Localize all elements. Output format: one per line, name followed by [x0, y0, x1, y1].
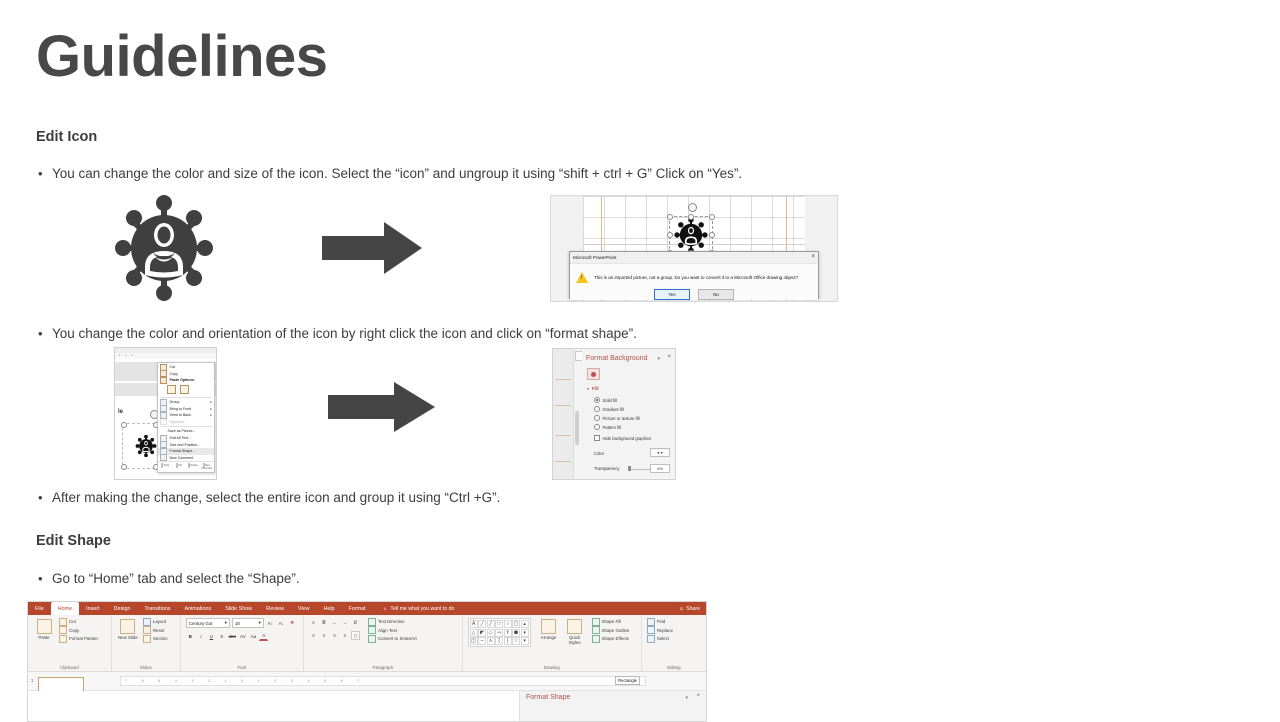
resize-handle-e[interactable] — [709, 232, 715, 238]
option-label: Solid fill — [603, 398, 617, 403]
group-label-slides: Slides — [112, 665, 180, 670]
new-slide-button[interactable]: New Slide — [117, 618, 139, 640]
shape-effects-label: Shape Effects — [602, 636, 629, 641]
checkbox-hide-background-graphics[interactable]: Hide background graphics — [594, 435, 651, 441]
ribbon-tab-home[interactable]: Home — [51, 602, 79, 615]
arrange-icon — [541, 619, 556, 634]
shape-parallelogram[interactable]: ◇ — [487, 629, 495, 637]
arrange-button[interactable]: Arrange — [538, 618, 560, 640]
align-right-button[interactable]: ≡ — [330, 631, 339, 640]
layout-icon — [143, 618, 151, 626]
close-icon[interactable]: × — [667, 354, 671, 360]
powerpoint-ungroup-dialog-screenshot: Microsoft PowerPoint × This is an import… — [550, 195, 838, 302]
selection-box — [669, 216, 713, 254]
menu-item-label: Bring to Front — [170, 407, 192, 411]
text-shadow-button[interactable]: S — [217, 632, 226, 641]
quick-styles-label: Quick Styles — [569, 635, 581, 645]
lightbulb-icon: ☼ — [383, 606, 388, 612]
group-label-font: Font — [181, 665, 303, 670]
resize-handle-n[interactable] — [688, 214, 694, 220]
find-label: Find — [657, 619, 666, 624]
virus-person-icon-small — [670, 217, 712, 253]
shape-rectangle[interactable]: □ — [495, 620, 503, 628]
bullet-text-4: Go to “Home” tab and select the “Shape”. — [52, 571, 300, 588]
ribbon-group-drawing: A ╱ ╱ □ ○ ▢ ▴ △ ◤ ◇ ⇒ ⇑ ⬟ ▾ ◫ ⌣ ∧ — [463, 615, 642, 671]
copy-button[interactable]: Copy — [59, 627, 98, 635]
increase-indent-button[interactable]: → — [340, 618, 349, 627]
transparency-label: Transparency — [594, 466, 619, 471]
right-arrow-icon-1 — [322, 222, 422, 279]
shape-pentagon[interactable]: ⬟ — [512, 629, 520, 637]
shape-left-brace[interactable]: { — [495, 637, 503, 645]
shape-curve[interactable]: ⌣ — [478, 637, 486, 645]
chevron-down-icon: ▾ — [661, 450, 663, 455]
increase-font-size-button[interactable]: A↑ — [266, 619, 275, 628]
quick-styles-button[interactable]: Quick Styles — [564, 618, 586, 645]
reset-label: Reset — [153, 628, 164, 633]
arrange-label: Arrange — [541, 635, 557, 640]
bullet-item-3: • After making the change, select the en… — [38, 490, 500, 507]
new-slide-label: New Slide — [118, 635, 138, 640]
menu-item-label: Format Shape... — [170, 449, 196, 453]
section-icon — [143, 635, 151, 643]
color-label: Color — [594, 451, 604, 456]
strikethrough-button[interactable]: abc — [228, 632, 237, 641]
menu-item-label: Size and Position... — [170, 443, 201, 447]
section-heading-edit-shape: Edit Shape — [36, 533, 111, 549]
menu-separator — [160, 397, 212, 398]
color-swatch-icon: ● — [657, 450, 659, 455]
section-button[interactable]: Section — [143, 635, 168, 643]
paste-picture-icon[interactable] — [180, 385, 189, 394]
copy-icon — [59, 626, 67, 634]
menu-item-label: Hyperlink... — [170, 420, 188, 424]
group-label-clipboard: Clipboard — [28, 665, 111, 670]
chevron-right-icon: ▸ — [210, 407, 212, 411]
ribbon-group-slides: New Slide Layout Reset Section — [112, 615, 181, 671]
context-menu[interactable]: Cut Copy Paste Options: Group ▸ — [157, 362, 215, 473]
radio-pattern-fill[interactable]: Pattern fill — [594, 424, 621, 430]
copy-label: Copy — [69, 628, 79, 633]
shape-right-brace[interactable]: } — [504, 637, 512, 645]
search-icon — [647, 618, 655, 626]
shape-outline-button[interactable]: Shape Outline — [592, 627, 630, 635]
virus-person-icon-small — [135, 435, 157, 457]
menu-item-new-comment[interactable]: New Comment — [158, 455, 214, 462]
paste-icon — [37, 619, 52, 634]
fill-color-dot — [591, 372, 596, 377]
color-picker-button[interactable]: ● ▾ — [650, 448, 670, 457]
radio-solid-fill[interactable]: Solid fill — [594, 397, 617, 403]
person-share-icon: ☺ — [679, 606, 684, 612]
slide-pane: le — [115, 359, 216, 479]
ribbon-tab-animations[interactable]: Animations — [178, 602, 219, 615]
bullet-item-4: • Go to “Home” tab and select the “Shape… — [38, 571, 300, 588]
option-label: Gradient fill — [603, 407, 624, 412]
bold-button[interactable]: B — [186, 632, 195, 641]
resize-handle-w[interactable] — [667, 232, 673, 238]
group-label-drawing: Drawing — [463, 665, 641, 670]
paste-options-row[interactable] — [158, 384, 214, 396]
format-painter-icon — [59, 635, 67, 643]
text-direction-label: Text Direction — [378, 619, 405, 624]
mini-tool-label: Outline — [190, 464, 198, 467]
text-direction-icon — [368, 618, 376, 626]
resize-handle-nw[interactable] — [121, 422, 127, 428]
horizontal-ruler[interactable]: 7 . . 6 . . 5 . . 4 . . 3 . . 2 . . 1 . … — [120, 676, 646, 686]
shape-rounded-rect[interactable]: ▢ — [512, 620, 520, 628]
tell-me-label: Tell me what you want to do — [390, 606, 454, 612]
dialog-title: Microsoft PowerPoint — [573, 255, 616, 260]
ribbon-tab-insert[interactable]: Insert — [79, 602, 106, 615]
format-shape-title: Format Shape — [526, 694, 570, 701]
replace-icon — [647, 626, 655, 634]
fill-section-label: Fill — [592, 386, 599, 391]
line-spacing-button[interactable]: ⇵ — [351, 618, 360, 627]
menu-item-label: New Comment — [170, 456, 194, 460]
ribbon-tab-view[interactable]: View — [291, 602, 317, 615]
menu-item-label: Group — [170, 400, 180, 404]
section-label: Section — [153, 636, 168, 641]
ribbon-tab-format[interactable]: Format — [342, 602, 373, 615]
justify-button[interactable]: ≡ — [340, 631, 349, 640]
shape-star[interactable]: ☆ — [512, 637, 520, 645]
shape-outline-icon — [592, 626, 600, 634]
format-shape-panel: Format Shape ▾ × — [519, 691, 706, 721]
font-size-combobox[interactable]: 18 ▾ — [232, 618, 264, 628]
shapes-scroll-up[interactable]: ▴ — [521, 620, 529, 628]
shape-right-triangle[interactable]: ◤ — [478, 629, 486, 637]
powerpoint-dialog: Microsoft PowerPoint × This is an import… — [569, 251, 819, 299]
menu-separator — [160, 426, 212, 427]
ribbon-group-paragraph: ≡ ≣ ← → ⇵ ≡ ≡ ≡ ≡ ▯ — [304, 615, 463, 671]
page-title: Guidelines — [36, 28, 328, 86]
mini-tool-new-comment[interactable]: New Comment — [201, 464, 212, 470]
save-picture-icon — [160, 429, 165, 434]
bullets-button[interactable]: ≡ — [309, 618, 318, 627]
menu-item-label: Paste Options: — [170, 378, 195, 382]
format-painter-button[interactable]: Format Painter — [59, 635, 98, 643]
rotate-handle[interactable] — [688, 203, 697, 212]
panel-title: Format Background — [586, 355, 647, 362]
mini-tool-fill[interactable]: Fill — [174, 464, 185, 470]
shape-tooltip: Rectangle — [615, 676, 640, 685]
align-center-button[interactable]: ≡ — [319, 631, 328, 640]
bullet-marker: • — [38, 490, 52, 506]
shape-effects-icon — [592, 635, 600, 643]
shape-triangle[interactable]: △ — [470, 629, 478, 637]
group-label-paragraph: Paragraph — [304, 665, 462, 670]
slide-thumbnail-strip — [553, 349, 574, 479]
slide-thumbnail[interactable] — [38, 677, 84, 692]
format-background-panel: Format Background ▾ × ▾ Fill Solid fill … — [582, 349, 675, 479]
find-button[interactable]: Find — [647, 618, 701, 626]
tell-me-search[interactable]: ☼ Tell me what you want to do — [373, 602, 455, 615]
new-slide-icon — [120, 619, 135, 634]
decrease-indent-button[interactable]: ← — [330, 618, 339, 627]
shape-arrow-right[interactable]: ⇒ — [495, 629, 503, 637]
fill-section-header[interactable]: ▾ Fill — [587, 386, 599, 391]
paste-icon — [160, 377, 167, 384]
columns-button[interactable]: ▯ — [351, 631, 360, 640]
align-text-button[interactable]: Align Text — [368, 627, 417, 635]
chevron-down-icon: ▾ — [259, 620, 261, 626]
dialog-body: This is an imported picture, not a group… — [570, 263, 818, 288]
dialog-no-button[interactable]: No — [698, 289, 734, 300]
dialog-buttons: Yes No — [570, 288, 818, 300]
bullet-item-1: • You can change the color and size of t… — [38, 166, 742, 183]
shape-fill-label: Shape Fill — [602, 619, 622, 624]
bullet-text-3: After making the change, select the enti… — [52, 490, 500, 507]
text-direction-button[interactable]: Text Direction — [368, 618, 417, 626]
shapes-more[interactable]: ▾ — [521, 637, 529, 645]
shapes-gallery[interactable]: A ╱ ╱ □ ○ ▢ ▴ △ ◤ ◇ ⇒ ⇑ ⬟ ▾ ◫ ⌣ ∧ — [468, 618, 531, 647]
radio-icon — [594, 424, 600, 430]
menu-item-hyperlink: Hyperlink... — [158, 419, 214, 426]
transparency-value-field[interactable]: 0% — [650, 464, 670, 473]
section-heading-edit-icon: Edit Icon — [36, 129, 97, 145]
shapes-scroll-down[interactable]: ▾ — [521, 629, 529, 637]
shape-outline-label: Shape Outline — [602, 628, 630, 633]
ribbon-tab-transitions[interactable]: Transitions — [137, 602, 177, 615]
mini-tool-style[interactable]: Style — [160, 464, 171, 470]
ribbon-bottom-area: Format Shape ▾ × — [28, 691, 706, 721]
chevron-down-icon[interactable]: ▾ — [685, 695, 688, 701]
ribbon-group-editing: Find Replace Select Editing — [642, 615, 706, 671]
convert-to-smartart-button[interactable]: Convert to SmartArt — [368, 635, 417, 643]
format-background-panel-screenshot: Format Background ▾ × ▾ Fill Solid fill … — [552, 348, 676, 480]
cut-button[interactable]: Cut — [59, 618, 98, 626]
select-button[interactable]: Select — [647, 635, 701, 643]
radio-icon — [594, 397, 600, 403]
cut-label: Cut — [69, 619, 76, 624]
resize-handle-ne[interactable] — [709, 214, 715, 220]
dialog-yes-button[interactable]: Yes — [654, 289, 690, 300]
clear-formatting-icon[interactable]: ✖ — [288, 619, 297, 628]
bullet-marker: • — [38, 326, 52, 342]
group-label-editing: Editing — [642, 665, 706, 670]
menu-item-label: Edit Alt Text... — [170, 436, 192, 440]
select-icon — [647, 635, 655, 643]
resize-handle-sw[interactable] — [121, 464, 127, 470]
menu-item-label: Cut — [170, 365, 176, 369]
shape-flowchart[interactable]: ◫ — [470, 637, 478, 645]
slide-number: 1 — [31, 678, 33, 683]
menu-item-paste-options: Paste Options: — [158, 377, 214, 384]
expand-triangle-icon: ▾ — [587, 387, 589, 391]
right-arrow-icon-2 — [328, 382, 435, 437]
align-left-button[interactable]: ≡ — [309, 631, 318, 640]
menu-item-label: Save as Picture... — [168, 429, 196, 433]
format-painter-label: Format Painter — [69, 636, 98, 641]
italic-button[interactable]: I — [196, 632, 205, 641]
radio-picture-or-texture-fill[interactable]: Picture or texture fill — [594, 415, 640, 421]
shape-oval[interactable]: ○ — [504, 620, 512, 628]
fill-preview-swatch[interactable] — [587, 368, 600, 380]
share-button[interactable]: ☺ Share — [679, 602, 700, 615]
quick-styles-icon — [567, 619, 582, 634]
replace-button[interactable]: Replace — [647, 627, 701, 635]
shape-arrow-up[interactable]: ⇑ — [504, 629, 512, 637]
shape-arc[interactable]: ∧ — [487, 637, 495, 645]
numbering-button[interactable]: ≣ — [319, 618, 328, 627]
option-label: Pattern fill — [603, 425, 622, 430]
reset-button[interactable]: Reset — [143, 627, 168, 635]
bullet-text-1: You can change the color and size of the… — [52, 166, 742, 183]
reset-icon — [143, 626, 151, 634]
ribbon-tab-help[interactable]: Help — [316, 602, 341, 615]
option-label: Hide background graphics — [603, 436, 652, 441]
transparency-slider-knob[interactable] — [628, 466, 631, 471]
layout-button[interactable]: Layout — [143, 618, 168, 626]
radio-icon — [594, 406, 600, 412]
ribbon-group-clipboard: Paste Cut Copy Format Painter — [28, 615, 112, 671]
character-spacing-button[interactable]: AV — [238, 632, 247, 641]
scrollbar-thumb[interactable] — [575, 411, 579, 445]
mini-toolbar[interactable]: Style Fill Outline New Comment — [158, 461, 214, 471]
ribbon-tab-review[interactable]: Review — [259, 602, 291, 615]
convert-smartart-label: Convert to SmartArt — [378, 636, 417, 641]
hyperlink-icon — [160, 418, 167, 425]
radio-icon — [594, 415, 600, 421]
shape-line[interactable]: ╱ — [478, 620, 486, 628]
shape-arrow[interactable]: ╱ — [487, 620, 495, 628]
layout-label: Layout — [153, 619, 166, 624]
virus-person-icon — [115, 195, 213, 306]
font-color-button[interactable]: A — [259, 631, 268, 641]
checkbox-icon — [594, 435, 600, 441]
change-case-button[interactable]: Aa — [249, 632, 258, 641]
menu-item-label: Send to Back — [170, 413, 191, 417]
close-icon[interactable]: × — [696, 693, 700, 699]
close-icon[interactable]: × — [811, 254, 815, 260]
powerpoint-home-ribbon-screenshot: File Home Insert Design Transitions Anim… — [27, 601, 707, 722]
share-label: Share — [686, 606, 700, 612]
transparency-slider[interactable] — [630, 469, 652, 470]
ribbon-body: Paste Cut Copy Format Painter — [28, 615, 706, 672]
bullet-marker: • — [38, 571, 52, 587]
chevron-right-icon: ▸ — [210, 413, 212, 417]
chevron-down-icon: ▾ — [225, 620, 227, 626]
paste-keep-formatting-icon[interactable] — [167, 385, 176, 394]
powerpoint-context-menu-screenshot: · · 1 · · 1 · · 1 · · le — [114, 347, 217, 480]
mini-tool-outline[interactable]: Outline — [187, 464, 198, 470]
underline-button[interactable]: U — [207, 632, 216, 641]
slide-text-fragment: le — [118, 409, 123, 415]
replace-label: Replace — [657, 628, 673, 633]
shape-fill-button[interactable]: Shape Fill — [592, 618, 630, 626]
bullet-text-2: You change the color and orientation of … — [52, 326, 637, 343]
ribbon-tab-slide-show[interactable]: Slide Show — [218, 602, 259, 615]
shape-fill-icon — [592, 618, 600, 626]
ribbon-tab-file[interactable]: File — [28, 602, 51, 615]
ribbon-status-band: 1 7 . . 6 . . 5 . . 4 . . 3 . . 2 . . 1 … — [28, 672, 706, 691]
option-label: Picture or texture fill — [603, 416, 640, 421]
menu-item-label: Copy — [170, 372, 178, 376]
ribbon-tab-strip: File Home Insert Design Transitions Anim… — [28, 602, 706, 615]
bullet-item-2: • You change the color and orientation o… — [38, 326, 637, 343]
resize-handle-nw[interactable] — [667, 214, 673, 220]
shape-effects-button[interactable]: Shape Effects — [592, 635, 630, 643]
dialog-titlebar: Microsoft PowerPoint × — [570, 252, 818, 263]
radio-gradient-fill[interactable]: Gradient fill — [594, 406, 624, 412]
shape-textbox[interactable]: A — [470, 620, 478, 628]
decrease-font-size-button[interactable]: A↓ — [277, 619, 286, 628]
scissors-icon — [59, 618, 67, 626]
warning-triangle-icon — [576, 272, 588, 283]
dialog-message: This is an imported picture, not a group… — [594, 275, 798, 281]
bullet-marker: • — [38, 166, 52, 182]
chevron-right-icon: ▸ — [210, 400, 212, 404]
select-label: Select — [657, 636, 669, 641]
align-text-label: Align Text — [378, 628, 397, 633]
font-name-value: Century Got — [189, 621, 213, 626]
comment-icon — [160, 454, 167, 461]
font-size-value: 18 — [235, 621, 240, 626]
font-name-combobox[interactable]: Century Got ▾ — [186, 618, 230, 628]
ribbon-tab-design[interactable]: Design — [107, 602, 138, 615]
align-text-icon — [368, 626, 376, 634]
chevron-down-icon[interactable]: ▾ — [657, 356, 660, 362]
mini-tool-label: Fill — [178, 464, 181, 467]
mini-tool-label: Style — [163, 464, 169, 467]
smartart-icon — [368, 635, 376, 643]
paste-button[interactable]: Paste — [33, 618, 55, 640]
ribbon-group-font: Century Got ▾ 18 ▾ A↑ A↓ ✖ B I U S abc A… — [181, 615, 304, 671]
paste-label: Paste — [38, 635, 49, 640]
